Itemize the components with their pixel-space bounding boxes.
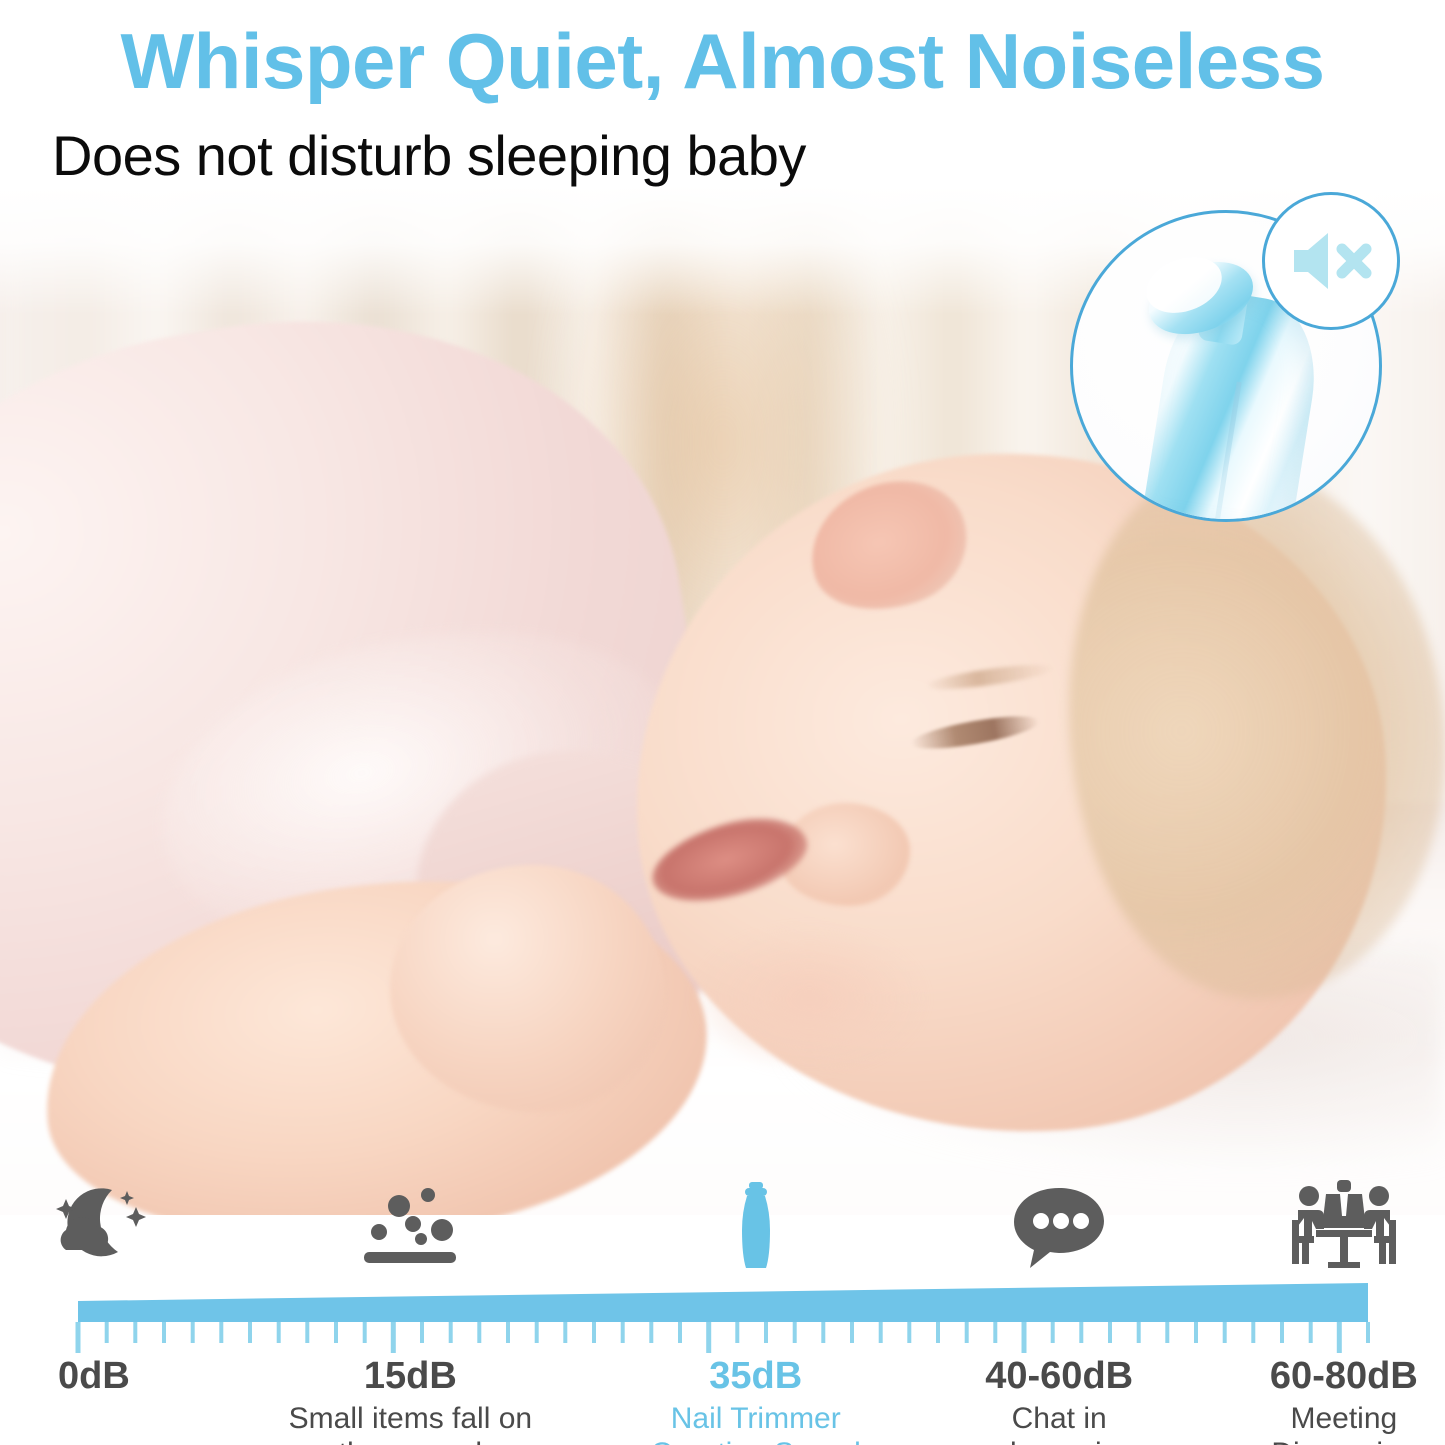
- ruler-graphic: [0, 1275, 1445, 1353]
- decibel-ruler: [0, 1275, 1445, 1353]
- desc-line-2: a low voice: [985, 1437, 1133, 1445]
- desc-line-2: the ground: [339, 1437, 482, 1445]
- desc-line-1: Chat in: [1012, 1402, 1107, 1435]
- ruler-ticks: [78, 1322, 1368, 1353]
- db-description: Small items fall on the ground: [289, 1401, 532, 1445]
- decibel-scale: 0dB 15dB Small items fall on the ground …: [0, 1180, 1445, 1445]
- scale-label-60-80db: 60-80dB Meeting Discussion: [1270, 1356, 1418, 1445]
- decibel-labels: 0dB 15dB Small items fall on the ground …: [0, 1356, 1445, 1445]
- db-value: 0dB: [58, 1356, 130, 1397]
- scale-label-40-60db: 40-60dB Chat in a low voice: [985, 1356, 1133, 1445]
- db-description: Meeting Discussion: [1270, 1401, 1418, 1445]
- db-description: Nail Trimmer Operting Sound: [651, 1401, 861, 1445]
- db-value: 15dB: [289, 1356, 532, 1397]
- db-value: 60-80dB: [1270, 1356, 1418, 1397]
- falling-particles-icon: [354, 1182, 466, 1275]
- moon-cloud-stars-icon: [40, 1184, 148, 1275]
- desc-line-2: Operting Sound: [651, 1437, 861, 1445]
- meeting-discussion-icon: [1290, 1180, 1398, 1275]
- nail-trimmer-icon: [734, 1180, 778, 1275]
- product-feature-image: Whisper Quiet, Almost Noiseless Does not…: [0, 0, 1445, 1445]
- decibel-scale-icons: [0, 1180, 1445, 1275]
- db-value: 35dB: [651, 1356, 861, 1397]
- scale-label-35db: 35dB Nail Trimmer Operting Sound: [651, 1356, 861, 1445]
- product-closeup-circle: [1070, 192, 1400, 522]
- scale-label-0db: 0dB: [58, 1356, 130, 1401]
- speaker-mute-icon: [1288, 228, 1374, 294]
- scale-label-15db: 15dB Small items fall on the ground: [289, 1356, 532, 1445]
- desc-line-1: Small items fall on: [289, 1402, 532, 1435]
- speaker-mute-badge: [1262, 192, 1400, 330]
- db-description: Chat in a low voice: [985, 1401, 1133, 1445]
- speech-bubble-icon: [1010, 1184, 1108, 1275]
- db-value: 40-60dB: [985, 1356, 1133, 1397]
- desc-line-1: Nail Trimmer: [671, 1402, 841, 1435]
- page-title: Whisper Quiet, Almost Noiseless: [0, 22, 1445, 100]
- desc-line-2: Discussion: [1271, 1437, 1416, 1445]
- ruler-bar: [78, 1283, 1368, 1322]
- baby-cheek: [694, 927, 925, 1071]
- baby-fist: [390, 865, 665, 1112]
- page-subtitle: Does not disturb sleeping baby: [52, 128, 806, 184]
- desc-line-1: Meeting: [1290, 1402, 1397, 1435]
